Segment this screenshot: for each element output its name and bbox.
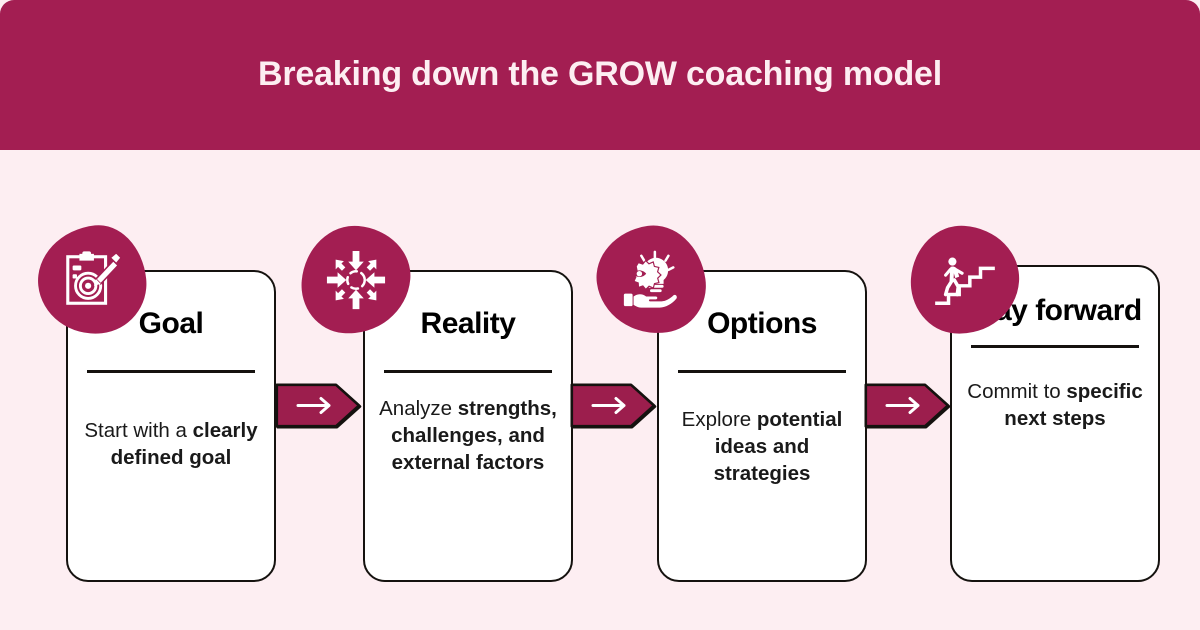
- person-climbing-stairs-icon: [934, 249, 996, 311]
- card-divider: [971, 345, 1139, 348]
- hand-lightbulb-gear-icon: [620, 249, 682, 311]
- card-divider: [384, 370, 552, 373]
- step-card-reality[interactable]: Reality Analyze strengths, challenges, a…: [363, 270, 573, 582]
- card-divider: [678, 370, 846, 373]
- connector-arrow-2: [570, 383, 656, 428]
- step-body-lead: Commit to: [967, 380, 1060, 403]
- arrow-right-icon: [570, 383, 656, 428]
- step-body-lead: Explore: [682, 408, 752, 431]
- infographic-canvas: Breaking down the GROW coaching model Go…: [0, 0, 1200, 630]
- step-body-goal: Start with a clearly defined goal: [81, 417, 261, 472]
- page-title: Breaking down the GROW coaching model: [258, 56, 942, 93]
- connector-arrow-3: [864, 383, 950, 428]
- converging-arrows-icon: [325, 249, 387, 311]
- step-body-wayforward: Commit to specific next steps: [965, 378, 1145, 433]
- arrow-right-icon: [275, 383, 361, 428]
- step-body-lead: Start with a: [84, 419, 187, 442]
- clipboard-target-pencil-icon: [61, 249, 123, 311]
- step-body-options: Explore potential ideas and strategies: [672, 406, 852, 488]
- step-body-lead: Analyze: [379, 397, 452, 420]
- step-body-reality: Analyze strengths, challenges, and exter…: [378, 395, 558, 477]
- step-title-reality: Reality: [365, 308, 571, 340]
- arrow-right-icon: [864, 383, 950, 428]
- header-banner: Breaking down the GROW coaching model: [0, 0, 1200, 150]
- connector-arrow-1: [275, 383, 361, 428]
- card-divider: [87, 370, 255, 373]
